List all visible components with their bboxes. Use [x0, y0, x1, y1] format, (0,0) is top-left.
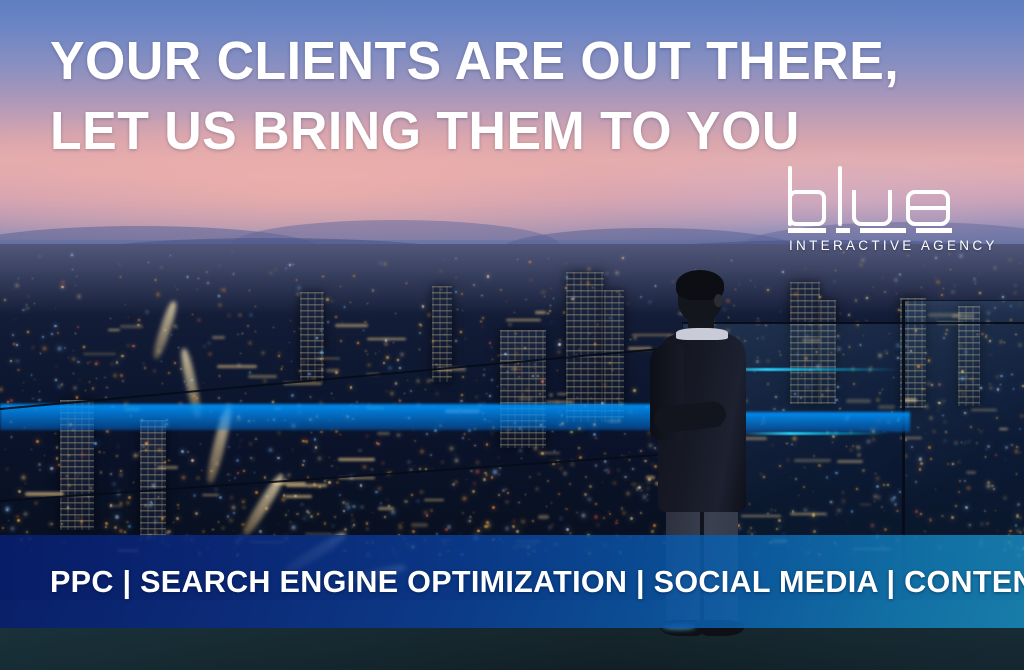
logo-letter-l	[838, 166, 842, 226]
logo-tagline: INTERACTIVE AGENCY	[789, 238, 998, 253]
logo-underline-rule	[788, 228, 952, 233]
figure-ear	[714, 294, 723, 307]
headline-line-1: YOUR CLIENTS ARE OUT THERE,	[50, 26, 899, 96]
marketing-banner: YOUR CLIENTS ARE OUT THERE, LET US BRING…	[0, 0, 1024, 670]
headline: YOUR CLIENTS ARE OUT THERE, LET US BRING…	[50, 26, 899, 166]
headline-line-2: LET US BRING THEM TO YOU	[50, 96, 899, 166]
logo-letter-b-bowl	[788, 190, 826, 226]
glass-highlight-edge	[740, 432, 890, 435]
blue-interactive-agency-logo[interactable]: INTERACTIVE AGENCY	[786, 166, 962, 258]
logo-letter-e-crossbar	[908, 206, 950, 210]
services-bar-text: PPC | SEARCH ENGINE OPTIMIZATION | SOCIA…	[50, 535, 976, 628]
logo-letter-u	[852, 190, 892, 226]
figure-shirt-collar	[676, 328, 728, 340]
logo-letter-u-stem	[888, 190, 892, 220]
logo-wordmark	[786, 166, 962, 228]
glass-reflection-band	[0, 404, 706, 430]
